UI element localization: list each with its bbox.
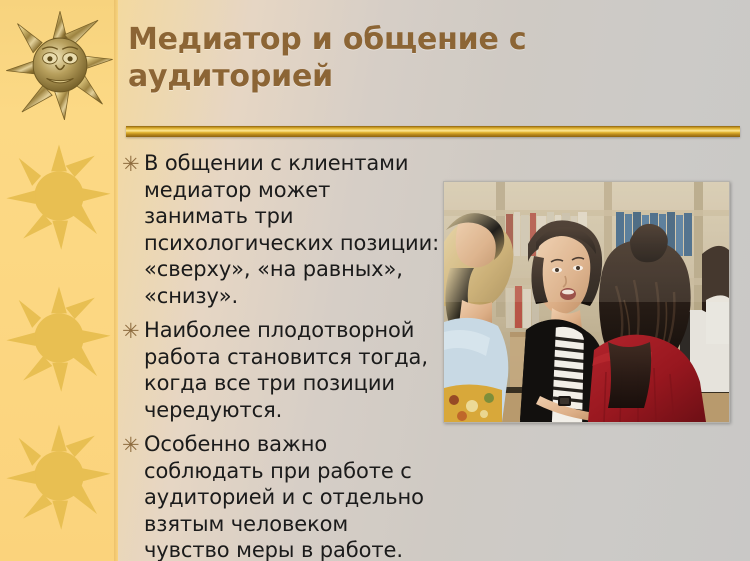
- list-item-text: В общении с клиентами медиатор может зан…: [144, 150, 440, 309]
- asterisk-bullet-icon: ✳: [122, 431, 144, 458]
- sun-burst-icon: [3, 282, 115, 394]
- asterisk-bullet-icon: ✳: [122, 150, 144, 177]
- list-item-text: Особенно важно соблюдать при работе с ау…: [144, 431, 440, 561]
- gold-divider-bar: [126, 126, 740, 137]
- metallic-sun-face-emblem-icon: [4, 6, 116, 124]
- sun-burst-icon: [3, 420, 115, 532]
- list-item-text: Наиболее плодотворной работа становится …: [144, 317, 440, 423]
- list-item: ✳ В общении с клиентами медиатор может з…: [122, 150, 440, 309]
- asterisk-bullet-icon: ✳: [122, 317, 144, 344]
- list-item: ✳ Наиболее плодотворной работа становитс…: [122, 317, 440, 423]
- presentation-slide: Медиатор и общение с аудиторией ✳ В обще…: [0, 0, 750, 561]
- bullet-list: ✳ В общении с клиентами медиатор может з…: [122, 150, 440, 561]
- sun-burst-icon: [3, 140, 115, 252]
- list-item: ✳ Особенно важно соблюдать при работе с …: [122, 431, 440, 561]
- slide-photo: [443, 181, 730, 423]
- slide-title: Медиатор и общение с аудиторией: [128, 22, 548, 95]
